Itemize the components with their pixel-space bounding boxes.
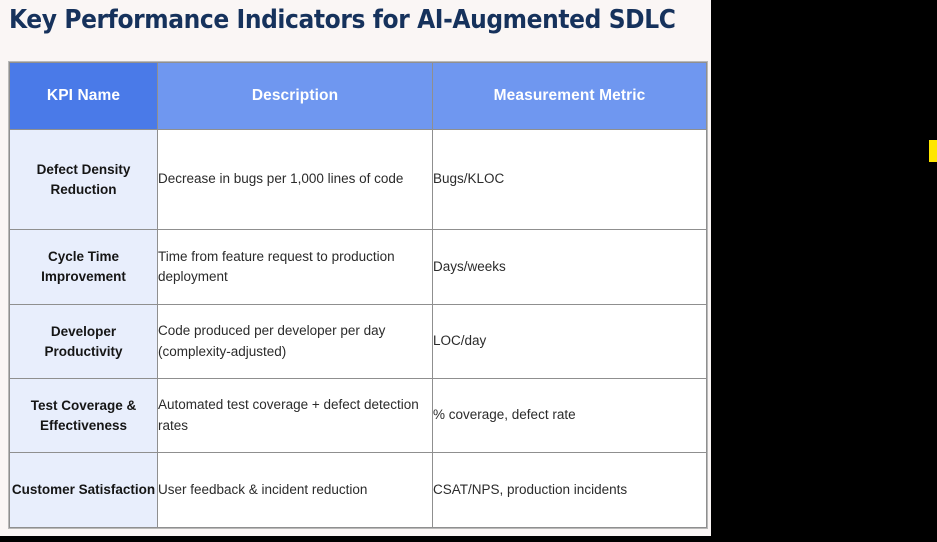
cell-measurement-metric: LOC/day bbox=[433, 305, 707, 379]
cell-kpi-name: Defect Density Reduction bbox=[10, 130, 158, 230]
edge-highlight-marker[interactable] bbox=[929, 140, 937, 162]
cell-description: Code produced per developer per day (com… bbox=[158, 305, 433, 379]
table-header-row: KPI Name Description Measurement Metric bbox=[10, 63, 707, 130]
cell-measurement-metric: % coverage, defect rate bbox=[433, 379, 707, 453]
table-row: Defect Density Reduction Decrease in bug… bbox=[10, 130, 707, 230]
table-header: KPI Name Description Measurement Metric bbox=[10, 63, 707, 130]
cell-description: User feedback & incident reduction bbox=[158, 453, 433, 528]
column-header-kpi-name: KPI Name bbox=[10, 63, 158, 130]
table-row: Customer Satisfaction User feedback & in… bbox=[10, 453, 707, 528]
screen-canvas: Key Performance Indicators for AI-Augmen… bbox=[0, 0, 937, 542]
table-row: Cycle Time Improvement Time from feature… bbox=[10, 230, 707, 305]
cell-measurement-metric: Bugs/KLOC bbox=[433, 130, 707, 230]
cell-kpi-name: Customer Satisfaction bbox=[10, 453, 158, 528]
cell-kpi-name: Developer Productivity bbox=[10, 305, 158, 379]
cell-description: Decrease in bugs per 1,000 lines of code bbox=[158, 130, 433, 230]
column-header-description: Description bbox=[158, 63, 433, 130]
table-row: Developer Productivity Code produced per… bbox=[10, 305, 707, 379]
slide-surface: Key Performance Indicators for AI-Augmen… bbox=[0, 0, 711, 536]
kpi-table: KPI Name Description Measurement Metric … bbox=[9, 62, 707, 528]
page-title: Key Performance Indicators for AI-Augmen… bbox=[9, 0, 709, 42]
column-header-measurement-metric: Measurement Metric bbox=[433, 63, 707, 130]
cell-measurement-metric: Days/weeks bbox=[433, 230, 707, 305]
table-row: Test Coverage & Effectiveness Automated … bbox=[10, 379, 707, 453]
cell-description: Automated test coverage + defect detecti… bbox=[158, 379, 433, 453]
table-body: Defect Density Reduction Decrease in bug… bbox=[10, 130, 707, 528]
cell-kpi-name: Test Coverage & Effectiveness bbox=[10, 379, 158, 453]
cell-kpi-name: Cycle Time Improvement bbox=[10, 230, 158, 305]
cell-description: Time from feature request to production … bbox=[158, 230, 433, 305]
cell-measurement-metric: CSAT/NPS, production incidents bbox=[433, 453, 707, 528]
